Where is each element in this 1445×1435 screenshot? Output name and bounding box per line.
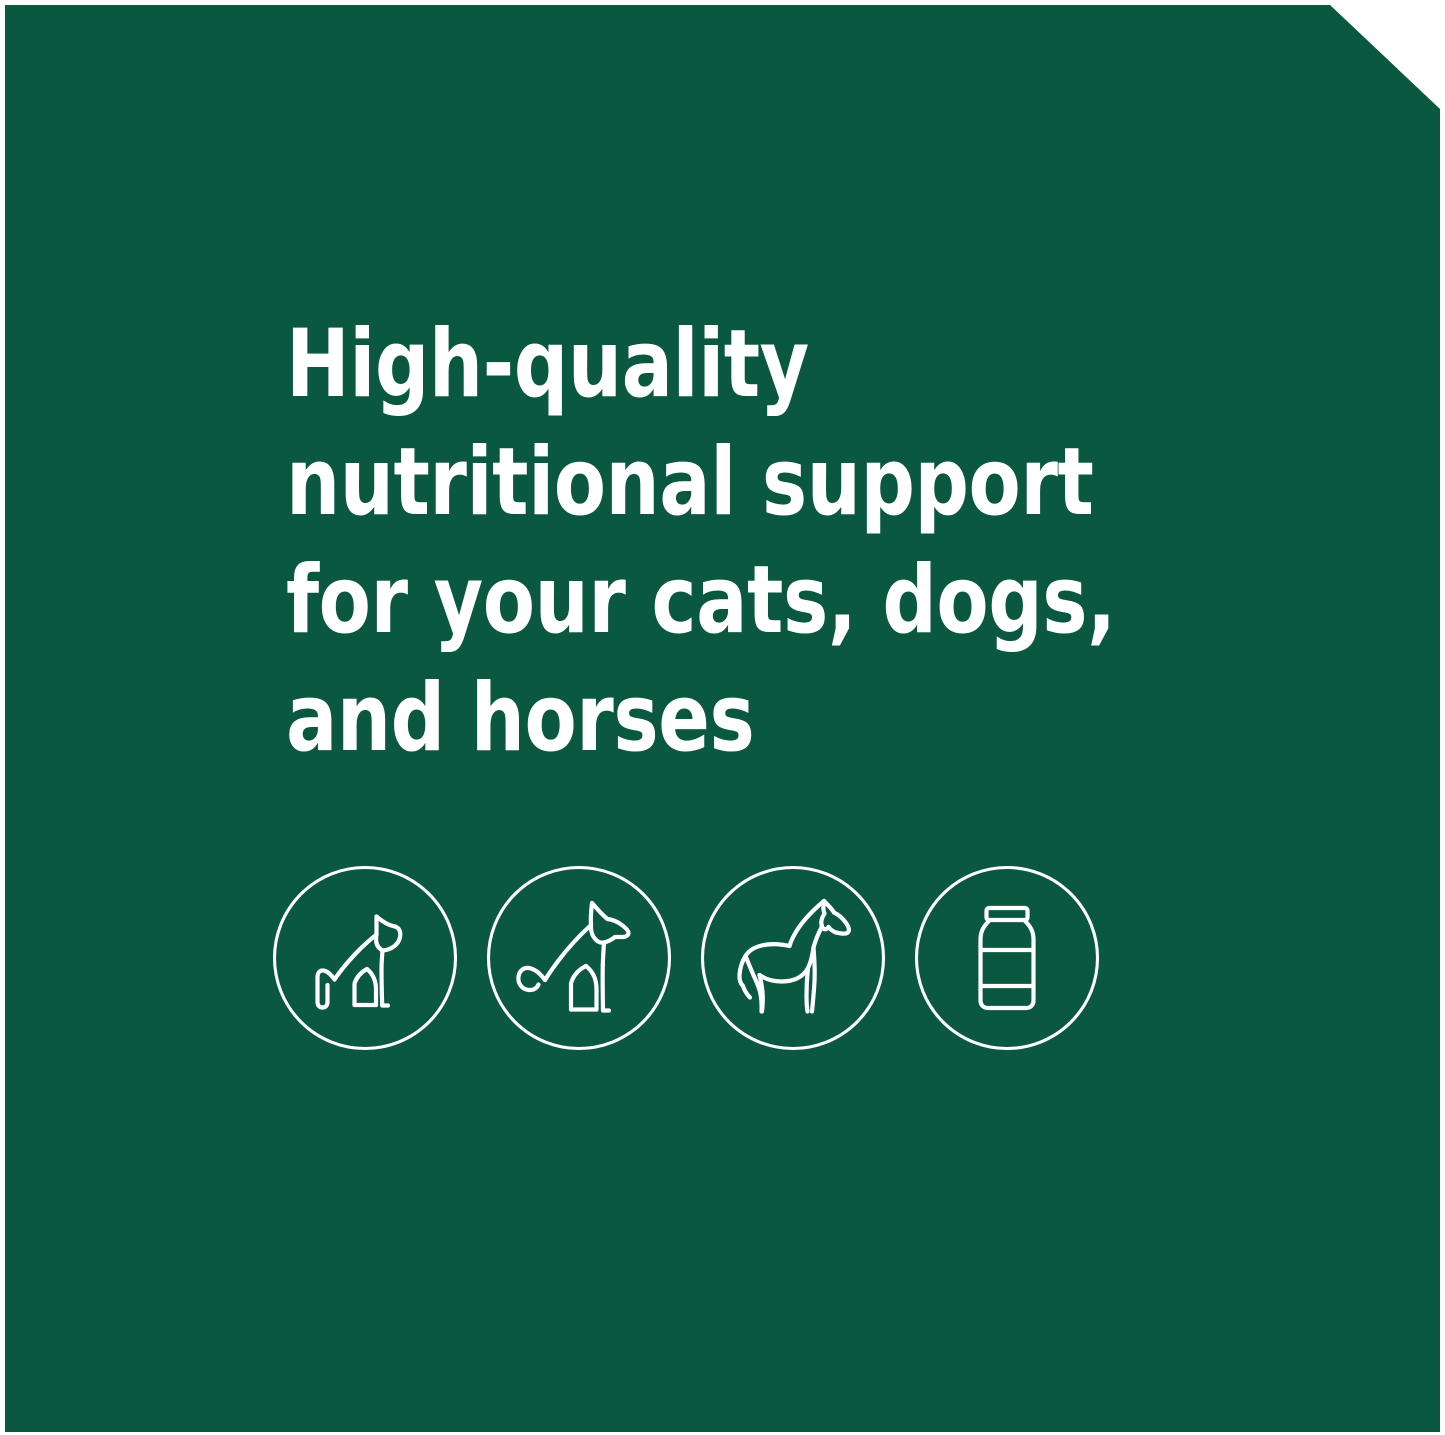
product-feature-banner: High-quality nutritional support for you…	[0, 0, 1445, 1435]
dog-icon	[486, 865, 672, 1051]
dog-icon-badge	[486, 865, 672, 1051]
cat-icon-badge	[272, 865, 458, 1051]
horse-glyph	[739, 901, 848, 1012]
bottle-icon-badge	[914, 865, 1100, 1051]
dog-icon-ring	[489, 868, 670, 1049]
cat-glyph	[318, 917, 401, 1008]
bottle-icon-ring	[917, 868, 1098, 1049]
headline-line-3: for your cats, dogs,	[286, 542, 1096, 660]
headline-line-4: and horses	[286, 660, 1096, 778]
cat-icon-ring	[275, 868, 456, 1049]
page-title: High-quality nutritional support for you…	[286, 306, 1186, 778]
animal-icon-row	[272, 865, 1100, 1051]
cat-icon	[272, 865, 458, 1051]
horse-icon-ring	[703, 868, 884, 1049]
bottle-glyph	[981, 908, 1034, 1008]
horse-icon	[700, 865, 886, 1051]
horse-icon-badge	[700, 865, 886, 1051]
supplement-bottle-icon	[914, 865, 1100, 1051]
dog-glyph	[518, 903, 628, 1011]
headline-line-1: High-quality	[286, 306, 1096, 424]
headline-line-2: nutritional support	[286, 424, 1096, 542]
